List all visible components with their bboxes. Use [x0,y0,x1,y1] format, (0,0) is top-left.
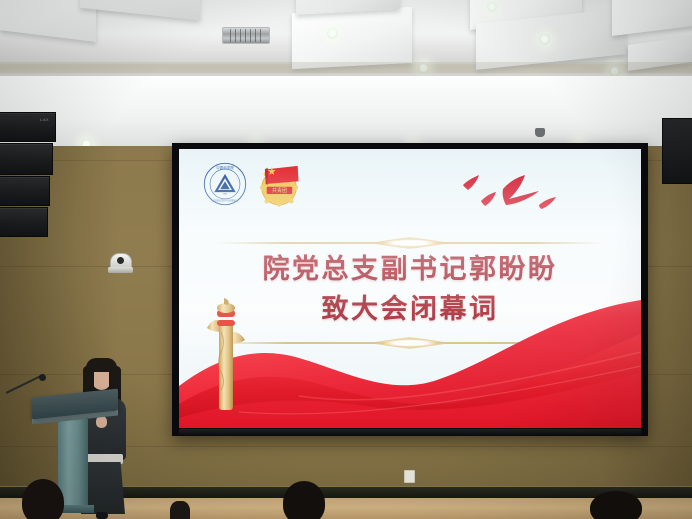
line-array-speaker-stack-left: LAX [0,112,60,238]
emblem-group: 中国科学院 SCIENCES ACADEMY 1956 [203,161,304,207]
red-silk-wave-graphic-icon [179,300,641,428]
ceiling-camera-icon [535,128,545,137]
huabiao-column-graphic-icon [205,298,247,418]
ptz-camera-icon [108,253,133,275]
svg-text:SCIENCES ACADEMY: SCIENCES ACADEMY [213,200,237,203]
svg-text:中国科学院: 中国科学院 [216,165,234,170]
slide-title-line-1: 院党总支副书记郭盼盼 [263,254,558,284]
audience-head [283,481,325,519]
communist-youth-league-emblem-icon: 共青团 [254,161,304,207]
svg-text:1956: 1956 [223,194,228,196]
audience-head [590,491,642,519]
ceiling-panel [292,7,412,69]
ceiling-soffit [0,76,692,146]
flying-birds-graphic-icon [459,171,569,219]
auditorium-photo: LAX 中国科学院 SCIENCES ACADEMY 1 [0,0,692,519]
led-display-wall: 中国科学院 SCIENCES ACADEMY 1956 [172,143,648,436]
line-array-speaker-right [662,118,692,184]
ceiling-shadow-band [0,62,692,76]
ceiling [0,0,692,152]
speaker-brand-label: LAX [40,117,49,122]
audience-head [22,479,64,519]
ceiling-panel [612,0,692,36]
presentation-slide: 中国科学院 SCIENCES ACADEMY 1956 [179,149,641,428]
grille-light-icon [222,27,270,44]
speaker-cabinet [0,143,53,175]
downlight-icon [539,34,550,45]
ceiling-panel [80,0,200,20]
audience-head [170,501,190,519]
gooseneck-microphone-icon [6,378,46,402]
downlight-icon [327,28,338,39]
university-emblem-icon: 中国科学院 SCIENCES ACADEMY 1956 [203,162,247,206]
speaker-cabinet [0,176,50,206]
downlight-icon [487,2,497,12]
speaker-cabinet [0,207,48,237]
wall-outlet-icon [404,470,415,483]
gold-divider-ornament [217,237,603,249]
speaker-cabinet: LAX [0,112,56,142]
